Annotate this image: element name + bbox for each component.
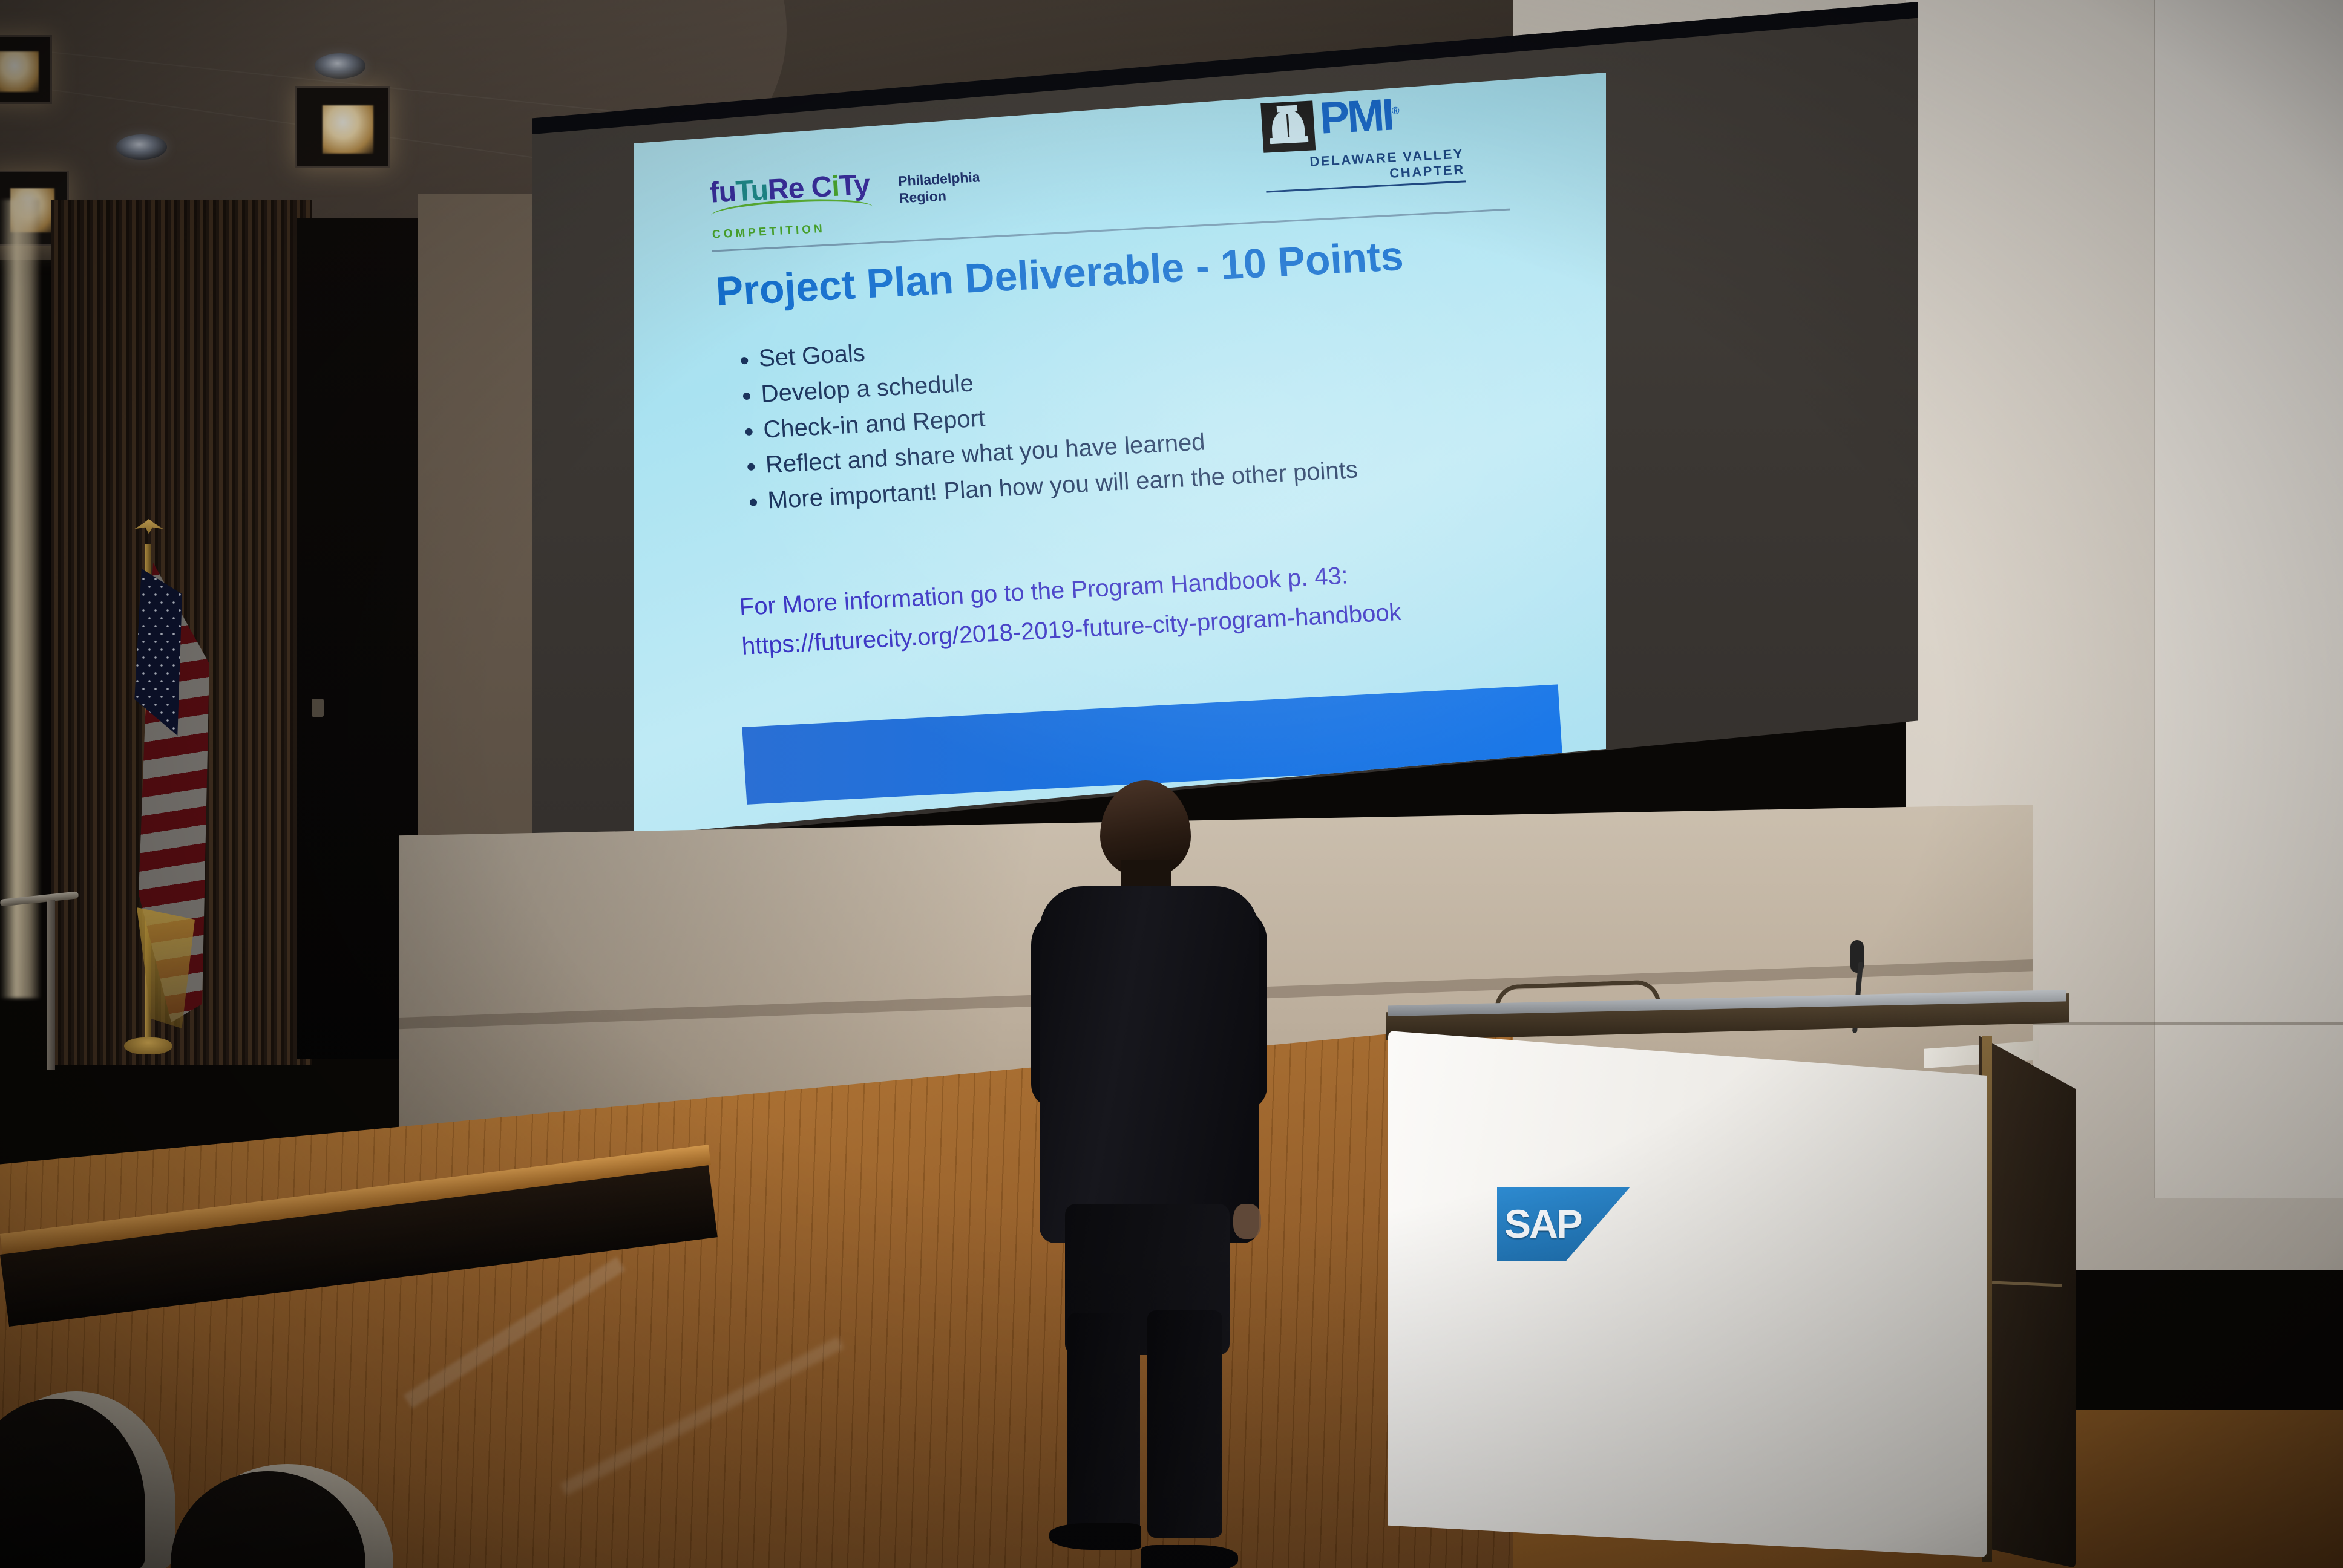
presenter-left-shoe bbox=[1049, 1523, 1141, 1550]
future-city-logo: fuTuRe CiTy COMPETITION Philadelphia Reg… bbox=[709, 166, 954, 242]
sap-logo-text: SAP bbox=[1504, 1201, 1581, 1247]
ceiling-wallwash-light-icon bbox=[295, 86, 390, 168]
presenter-right-leg bbox=[1147, 1310, 1222, 1538]
slide-title: Project Plan Deliverable - 10 Points bbox=[715, 224, 1564, 315]
fc-word-part-6: T bbox=[838, 169, 855, 202]
slide-reference-block: For More information go to the Program H… bbox=[738, 544, 1589, 667]
presenter-right-shoe bbox=[1141, 1545, 1238, 1568]
fc-word-part-7: y bbox=[853, 169, 871, 201]
slide-number: 1.2 bbox=[1485, 776, 1512, 797]
podium-front-panel: SAP bbox=[1388, 1031, 1987, 1557]
projected-slide: PMI® DELAWARE VALLEY CHAPTER fuTuRe CiTy… bbox=[634, 73, 1606, 859]
ceiling-downlight-icon bbox=[116, 134, 167, 160]
presenter-hand bbox=[1233, 1204, 1261, 1239]
door-handle[interactable] bbox=[312, 699, 324, 717]
fc-word-part-4: C bbox=[810, 171, 833, 204]
presenter bbox=[1029, 780, 1271, 1524]
presenter-suit-jacket bbox=[1040, 886, 1259, 1243]
sap-logo: SAP bbox=[1497, 1187, 1630, 1261]
presenter-left-leg bbox=[1067, 1313, 1140, 1537]
podium-side-panel bbox=[1979, 1036, 2076, 1568]
ceiling-wallwash-light-icon bbox=[0, 35, 52, 104]
ceiling-downlight-icon bbox=[315, 53, 365, 79]
right-wall-panel bbox=[2154, 0, 2343, 1198]
fc-word-part-2: Tu bbox=[735, 174, 768, 208]
slide-bullet-list: Set Goals Develop a schedule Check-in an… bbox=[729, 298, 1604, 521]
stage-railing-post bbox=[47, 900, 55, 1070]
pmi-logo: PMI® DELAWARE VALLEY CHAPTER bbox=[1260, 93, 1466, 193]
fc-word-part-3: Re bbox=[767, 172, 805, 206]
podium: SAP bbox=[1380, 968, 2082, 1568]
registered-trademark-icon: ® bbox=[1391, 105, 1400, 117]
fc-word-part-1: fu bbox=[709, 176, 737, 209]
flag-stand-base bbox=[124, 1037, 172, 1054]
wall-light-strip bbox=[0, 200, 40, 998]
pmi-acronym: PMI bbox=[1318, 90, 1394, 143]
auditorium-presentation-scene: PMI® DELAWARE VALLEY CHAPTER fuTuRe CiTy… bbox=[0, 0, 2343, 1568]
liberty-bell-icon bbox=[1260, 100, 1316, 152]
